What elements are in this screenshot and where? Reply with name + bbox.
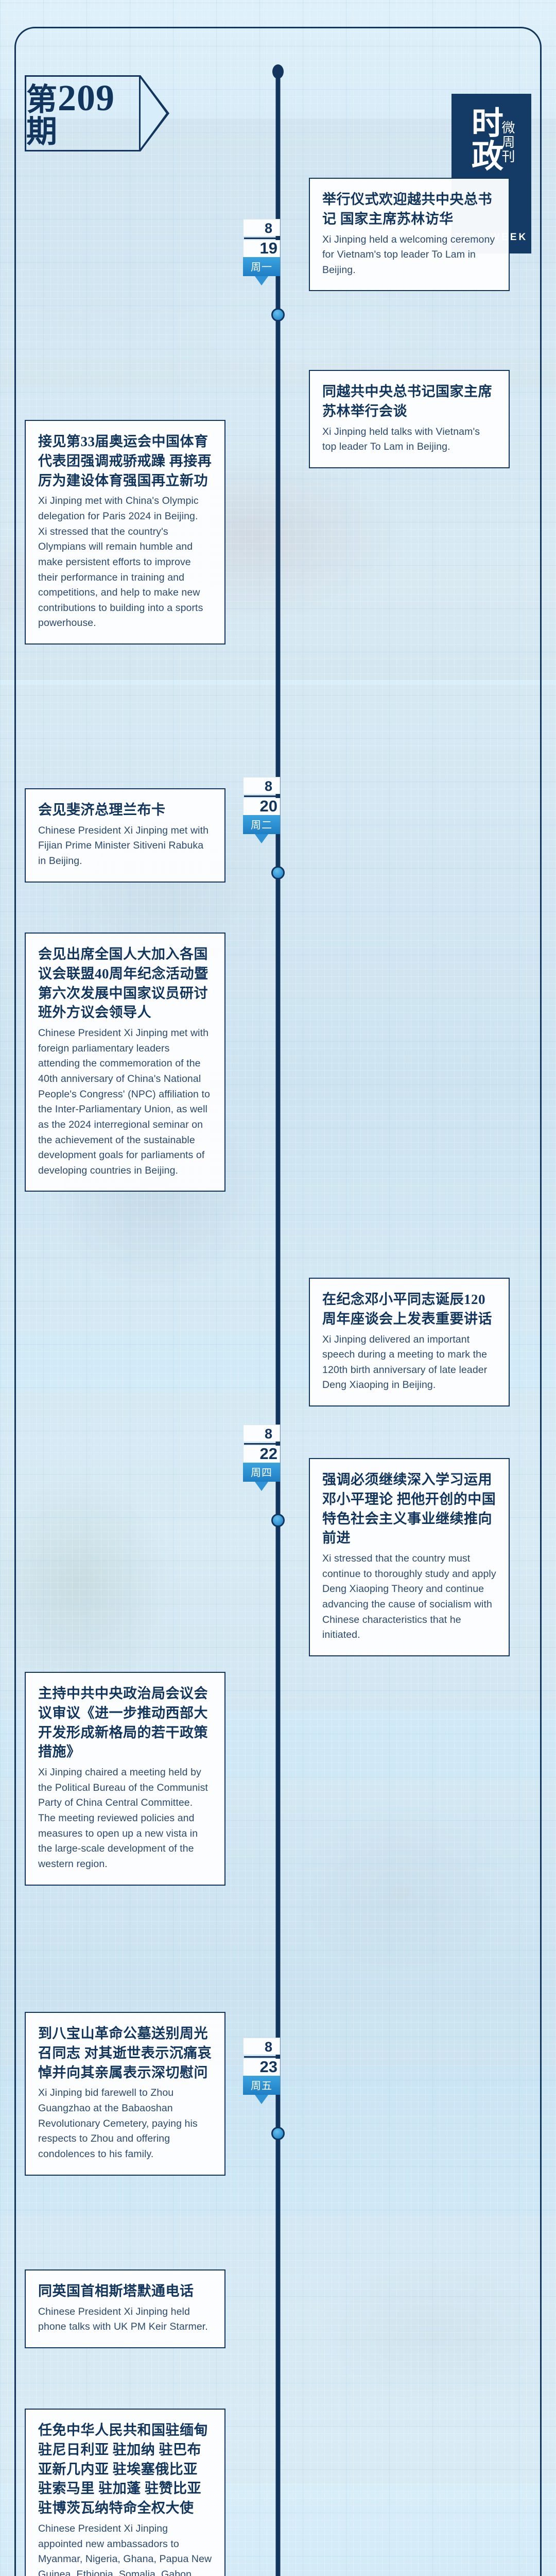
issue-prefix: 第 (26, 83, 58, 117)
date-chip-0819[interactable]: 8 19 周一 (243, 219, 280, 285)
news-card-title-zh: 任免中华人民共和国驻缅甸 驻尼日利亚 驻加纳 驻巴布亚新几内亚 驻埃塞俄比亚 驻… (38, 2421, 212, 2518)
news-card[interactable]: 到八宝山革命公墓送别周光召同志 对其逝世表示沉痛哀悼并向其亲属表示深切慰问 Xi… (25, 2012, 225, 2176)
news-card-body-en: Xi Jinping chaired a meeting held by the… (38, 1765, 212, 1872)
timeline-top-dot (272, 64, 284, 79)
issue-suffix: 期 (26, 115, 58, 149)
date-chip-0823[interactable]: 8 23 周五 (243, 2038, 280, 2104)
date-chip-tail-icon (255, 2095, 268, 2104)
issue-badge-arrow-inner-icon (141, 78, 166, 148)
news-card-title-zh: 到八宝山革命公墓送别周光召同志 对其逝世表示沉痛哀悼并向其亲属表示深切慰问 (38, 2024, 212, 2082)
news-card-title-zh: 强调必须继续深入学习运用邓小平理论 把他开创的中国特色社会主义事业继续推向前进 (322, 1470, 496, 1548)
date-day: 20 (243, 798, 280, 815)
news-card[interactable]: 举行仪式欢迎越共中央总书记 国家主席苏林访华 Xi Jinping held a… (309, 178, 510, 291)
news-card[interactable]: 强调必须继续深入学习运用邓小平理论 把他开创的中国特色社会主义事业继续推向前进 … (309, 1458, 510, 1656)
date-day: 22 (243, 1446, 280, 1463)
date-month: 8 (248, 2040, 275, 2054)
news-card-body-en: Chinese President Xi Jinping met with fo… (38, 1026, 212, 1178)
brand-logo-main: 时政 (468, 106, 499, 172)
date-weekday: 周五 (243, 2076, 280, 2095)
issue-number: 209 (58, 77, 115, 118)
news-card[interactable]: 任免中华人民共和国驻缅甸 驻尼日利亚 驻加纳 驻巴布亚新几内亚 驻埃塞俄比亚 驻… (25, 2409, 225, 2576)
date-chip-tail-icon (255, 276, 268, 285)
brand-logo-sub: 微周刊 (500, 121, 514, 164)
date-weekday: 周一 (243, 257, 280, 276)
news-card-body-en: Chinese President Xi Jinping appointed n… (38, 2521, 212, 2576)
news-card[interactable]: 在纪念邓小平同志诞辰120周年座谈会上发表重要讲话 Xi Jinping del… (309, 1278, 510, 1406)
news-card[interactable]: 会见出席全国人大加入各国议会联盟40周年纪念活动暨第六次发展中国家议员研讨班外方… (25, 933, 225, 1192)
news-card[interactable]: 主持中共中央政治局会议会议审议《进一步推动西部大开发形成新格局的若干政策措施》 … (25, 1672, 225, 1886)
news-card-body-en: Xi Jinping held talks with Vietnam's top… (322, 425, 496, 455)
date-chip-0822[interactable]: 8 22 周四 (243, 1425, 280, 1491)
date-weekday: 周四 (243, 1463, 280, 1482)
news-card-title-zh: 接见第33届奥运会中国体育代表团强调戒骄戒躁 再接再厉为建设体育强国再立新功 (38, 432, 212, 490)
date-month: 8 (248, 222, 275, 235)
news-card-body-en: Chinese President Xi Jinping met with Fi… (38, 823, 212, 869)
news-card-title-zh: 同英国首相斯塔默通电话 (38, 2282, 212, 2301)
date-month: 8 (248, 779, 275, 793)
timeline-node-0820 (271, 866, 285, 879)
news-card[interactable]: 同英国首相斯塔默通电话 Chinese President Xi Jinping… (25, 2269, 225, 2348)
date-chip-tail-icon (255, 834, 268, 843)
news-card-title-zh: 同越共中央总书记国家主席苏林举行会谈 (322, 382, 496, 421)
news-card-title-zh: 会见斐济总理兰布卡 (38, 801, 212, 820)
date-month: 8 (248, 1427, 275, 1441)
timeline-line (276, 78, 281, 2576)
timeline-node-0822 (271, 1514, 285, 1527)
news-card-title-zh: 举行仪式欢迎越共中央总书记 国家主席苏林访华 (322, 190, 496, 229)
news-card-body-en: Xi Jinping held a welcoming ceremony for… (322, 232, 496, 278)
timeline-node-0819 (271, 308, 285, 321)
news-card[interactable]: 会见斐济总理兰布卡 Chinese President Xi Jinping m… (25, 788, 225, 883)
news-card[interactable]: 接见第33届奥运会中国体育代表团强调戒骄戒躁 再接再厉为建设体育强国再立新功 X… (25, 420, 225, 645)
news-card-body-en: Xi Jinping bid farewell to Zhou Guangzha… (38, 2086, 212, 2162)
news-card-title-zh: 主持中共中央政治局会议会议审议《进一步推动西部大开发形成新格局的若干政策措施》 (38, 1684, 212, 1762)
date-chip-0820[interactable]: 8 20 周二 (243, 777, 280, 843)
news-card-body-en: Xi Jinping delivered an important speech… (322, 1332, 496, 1394)
date-day: 19 (243, 240, 280, 257)
news-card-title-zh: 在纪念邓小平同志诞辰120周年座谈会上发表重要讲话 (322, 1290, 496, 1329)
timeline-node-0823 (271, 2127, 285, 2140)
date-weekday: 周二 (243, 815, 280, 834)
news-card[interactable]: 同越共中央总书记国家主席苏林举行会谈 Xi Jinping held talks… (309, 370, 510, 468)
issue-badge: 第209期 (25, 75, 141, 151)
date-day: 23 (243, 2059, 280, 2076)
news-card-body-en: Xi Jinping met with China's Olympic dele… (38, 494, 212, 631)
news-card-title-zh: 会见出席全国人大加入各国议会联盟40周年纪念活动暨第六次发展中国家议员研讨班外方… (38, 945, 212, 1023)
news-card-body-en: Xi stressed that the country must contin… (322, 1551, 496, 1643)
news-card-body-en: Chinese President Xi Jinping held phone … (38, 2304, 212, 2335)
date-chip-tail-icon (255, 1482, 268, 1491)
